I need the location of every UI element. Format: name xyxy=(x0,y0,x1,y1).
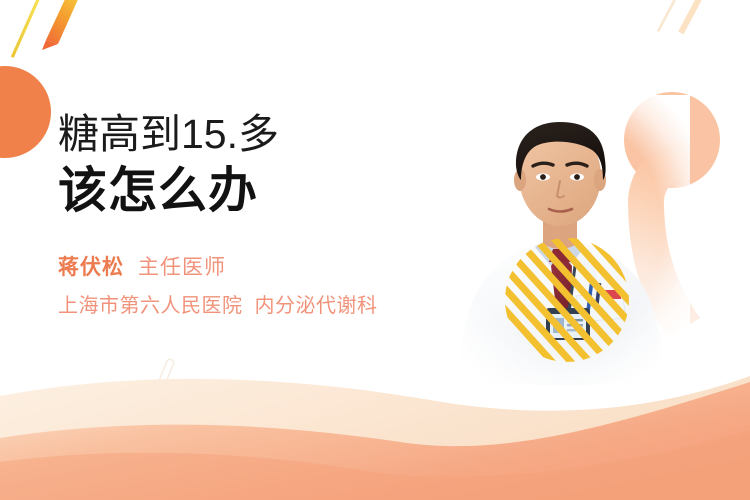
bottom-wave-decorations xyxy=(0,0,750,500)
video-thumbnail-poster: 糖高到15.多 该怎么办 蒋伏松主任医师 上海市第六人民医院内分泌代谢科 xyxy=(0,0,750,500)
